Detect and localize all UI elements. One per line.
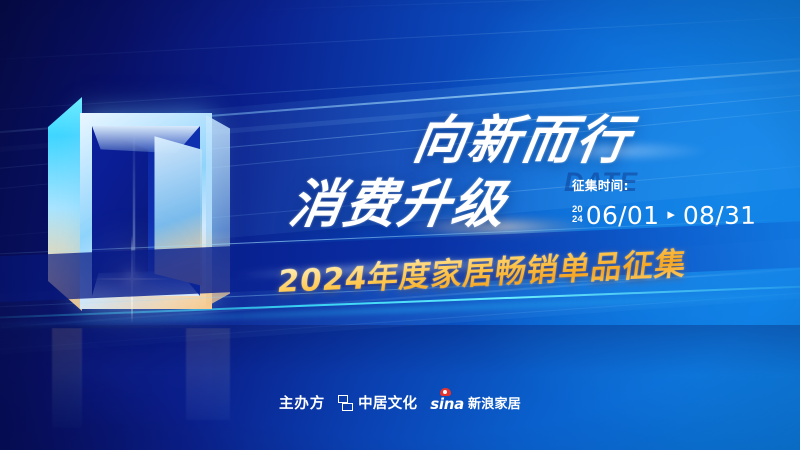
light-beam — [133, 125, 135, 275]
light-ray — [0, 13, 800, 63]
date-end: 08/31 — [683, 201, 757, 230]
year-bottom: 24 — [572, 215, 583, 225]
media-partner-logo[interactable]: sina 新浪家居 — [430, 393, 521, 413]
sina-text: sina — [430, 395, 464, 413]
door-open-panel — [154, 136, 202, 286]
sina-wordmark: sina — [430, 395, 464, 413]
door-opening — [92, 126, 200, 296]
headline-line-1: 向新而行 — [409, 112, 635, 170]
door-right-edge — [206, 115, 230, 307]
promo-banner: 向新而行 消费升级 DATE 征集时间: 20 24 06/01 ▸ 08/31… — [0, 0, 800, 450]
door-reflection — [36, 328, 256, 438]
headline-line-2: 消费升级 — [285, 176, 511, 234]
light-ray — [240, 0, 800, 11]
organizer-logo[interactable]: 中居文化 — [338, 392, 417, 413]
door-portal-graphic — [36, 95, 256, 325]
date-range-row: 20 24 06/01 ▸ 08/31 — [572, 201, 756, 230]
door-left-edge — [48, 97, 82, 311]
media-partner-name: 新浪家居 — [468, 393, 521, 413]
sponsor-row: 主办方 中居文化 sina 新浪家居 — [0, 392, 800, 413]
star-flare-icon — [130, 277, 134, 281]
door-inner-left-wall — [92, 126, 148, 296]
date-label: 征集时间: — [572, 175, 756, 194]
reflection-edge — [52, 328, 82, 428]
zhongju-mark-icon — [338, 395, 353, 410]
collection-date-block: DATE 征集时间: 20 24 06/01 ▸ 08/31 — [572, 175, 756, 230]
organizer-label: 主办方 — [279, 392, 325, 413]
date-separator-icon: ▸ — [662, 205, 680, 226]
date-start: 06/01 — [586, 201, 660, 230]
subtitle-text: 2024年度家居畅销单品征集 — [275, 238, 690, 301]
sina-eye-icon — [440, 388, 451, 396]
year-stack: 20 24 — [572, 205, 583, 226]
organizer-name: 中居文化 — [358, 392, 417, 413]
